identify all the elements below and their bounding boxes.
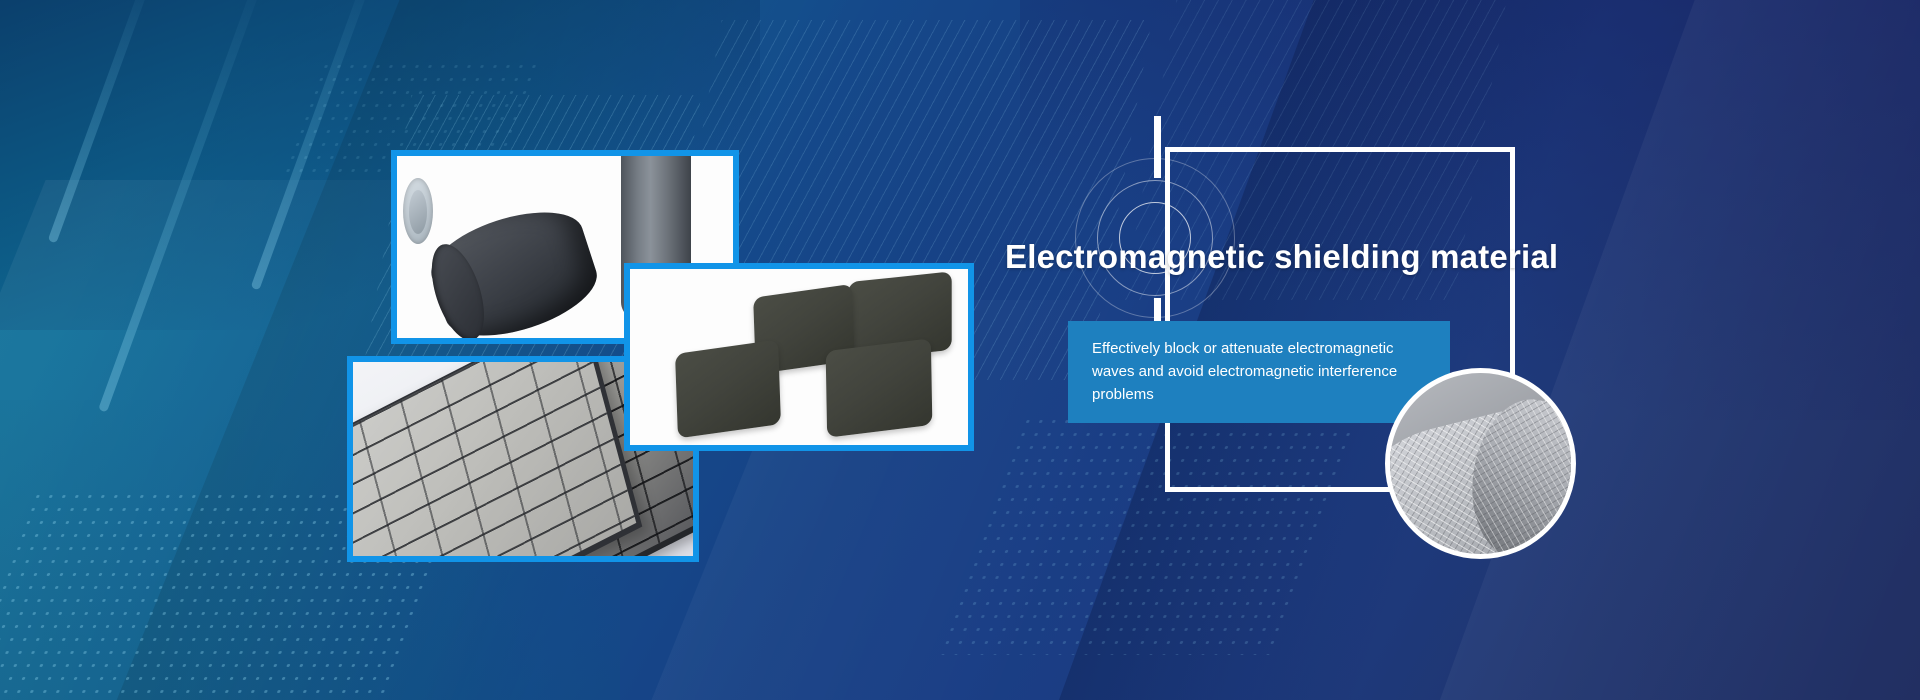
product-image-shielding-pads[interactable] [624, 263, 974, 451]
description-text: Effectively block or attenuate electroma… [1092, 338, 1428, 406]
background-streak [48, 0, 159, 243]
shielding-pad [826, 338, 933, 437]
product-image-conductive-fabric[interactable] [1385, 368, 1576, 559]
page-title: Electromagnetic shielding material [1005, 238, 1558, 276]
background-streak [98, 0, 271, 413]
tape-roll-main [422, 196, 607, 338]
shielding-pads-photo [630, 269, 968, 445]
hero-banner: Electromagnetic shielding material Effec… [0, 0, 1920, 700]
background-streak [251, 0, 379, 290]
shielding-pad [675, 340, 781, 439]
radar-tick-top [1154, 116, 1161, 178]
tape-roll-core-ring [409, 190, 427, 234]
